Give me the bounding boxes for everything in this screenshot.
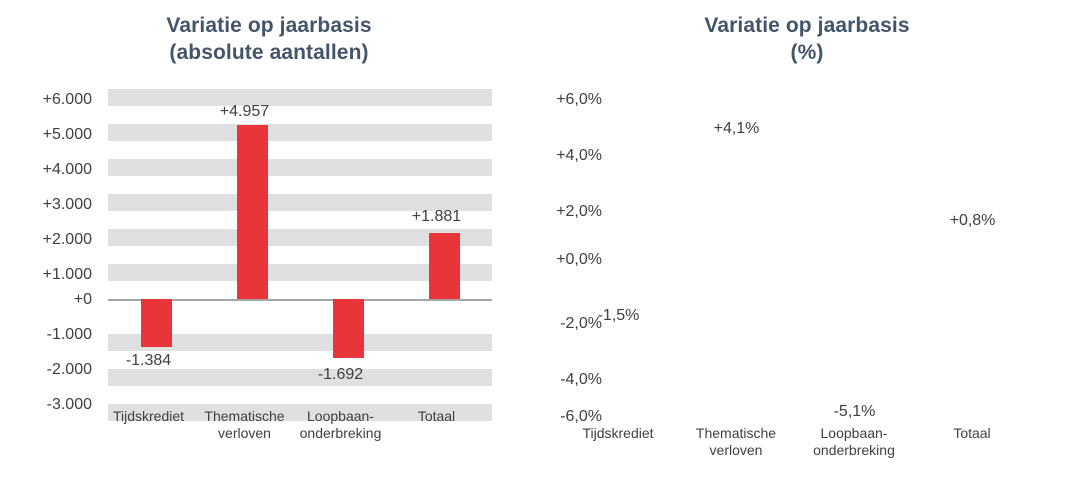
data-label-tijdskrediet: -1.384: [96, 352, 201, 370]
y-axis-tick-label: +2.000: [6, 232, 92, 248]
category-line1: Loopbaan-: [285, 408, 396, 425]
y-axis-tick-label: -6,0%: [516, 409, 602, 425]
x-axis-category-thematische-verloven: Thematische verloven: [189, 408, 300, 442]
x-axis-category-loopbaanonderbreking: Loopbaan- onderbreking: [285, 408, 396, 442]
category-line2: verloven: [189, 425, 300, 442]
grid-band: [108, 89, 492, 106]
y-axis-tick-label: -4,0%: [516, 372, 602, 388]
category-line1: Tijdskrediet: [93, 408, 204, 425]
y-axis-tick-label: +3.000: [6, 197, 92, 213]
chart-title-line1: Variatie op jaarbasis: [166, 14, 371, 37]
bar-thematische-verloven: [237, 125, 268, 299]
category-line2: onderbreking: [785, 442, 923, 459]
y-axis-tick-label: +6,0%: [516, 92, 602, 108]
bar-loopbaanonderbreking: [333, 299, 364, 358]
chart-title-line1: Variatie op jaarbasis: [704, 14, 909, 37]
chart-panel-percentage: Variatie op jaarbasis (%) +6,0% +4,0% +2…: [538, 0, 1076, 503]
grid-band: [108, 124, 492, 141]
category-line1: Totaal: [381, 408, 492, 425]
y-axis-tick-label: -3.000: [6, 397, 92, 413]
data-label-thematische-verloven: +4,1%: [668, 120, 805, 138]
y-axis-tick-label: +5.000: [6, 127, 92, 143]
data-label-tijdskrediet: -1,5%: [550, 307, 687, 325]
chart-title-absolute: Variatie op jaarbasis (absolute aantalle…: [0, 12, 538, 66]
x-axis-category-totaal: Totaal: [903, 425, 1041, 442]
category-line1: Thematische: [189, 408, 300, 425]
y-axis-tick-label: +0: [6, 292, 92, 308]
data-label-totaal: +1.881: [384, 208, 489, 226]
chart-title-line2: (%): [538, 39, 1076, 66]
data-label-totaal: +0,8%: [904, 212, 1041, 230]
y-axis-tick-label: +4.000: [6, 162, 92, 178]
y-axis-tick-label: +2,0%: [516, 204, 602, 220]
grid-band: [108, 159, 492, 176]
category-line2: onderbreking: [285, 425, 396, 442]
y-axis-tick-label: +0,0%: [516, 252, 602, 268]
data-label-thematische-verloven: +4.957: [192, 103, 297, 121]
bar-totaal: [429, 233, 460, 299]
chart-title-percentage: Variatie op jaarbasis (%): [538, 12, 1076, 66]
chart-title-line2: (absolute aantallen): [0, 39, 538, 66]
chart-panel-absolute: Variatie op jaarbasis (absolute aantalle…: [0, 0, 538, 503]
x-axis-category-tijdskrediet: Tijdskrediet: [93, 408, 204, 425]
category-line1: Totaal: [903, 425, 1041, 442]
data-label-loopbaanonderbreking: -5,1%: [786, 403, 923, 421]
y-axis-tick-label: +1.000: [6, 267, 92, 283]
y-axis-tick-label: +6.000: [6, 92, 92, 108]
y-axis-tick-label: -1.000: [6, 327, 92, 343]
x-axis-category-totaal: Totaal: [381, 408, 492, 425]
y-axis-tick-label: +4,0%: [516, 148, 602, 164]
figure-canvas: Variatie op jaarbasis (absolute aantalle…: [0, 0, 1076, 503]
y-axis-tick-label: -2.000: [6, 362, 92, 378]
bar-tijdskrediet: [141, 299, 172, 347]
data-label-loopbaanonderbreking: -1.692: [288, 366, 393, 384]
